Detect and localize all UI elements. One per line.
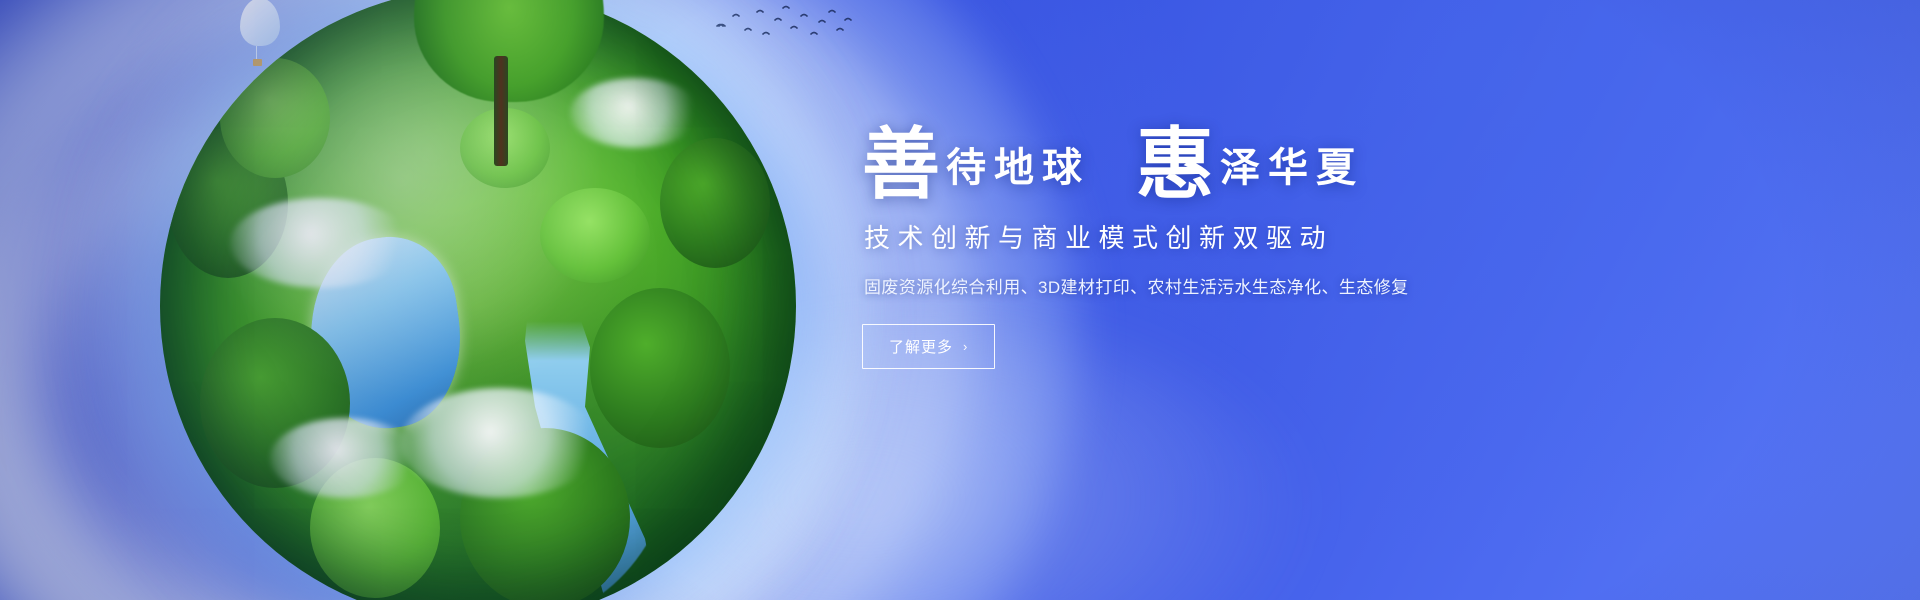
headline-small-text-2: 泽华夏 (1214, 148, 1366, 198)
hero-copy-block: 善 待地球 惠 泽华夏 技术创新与商业模式创新双驱动 固废资源化综合利用、3D建… (862, 120, 1622, 369)
headline-big-char-2: 惠 (1136, 126, 1214, 204)
birds-icon (713, 0, 853, 55)
tiny-planet-earth-image (128, 0, 828, 600)
headline-big-char-1: 善 (862, 126, 940, 204)
hero-banner: 善 待地球 惠 泽华夏 技术创新与商业模式创新双驱动 固废资源化综合利用、3D建… (0, 0, 1920, 600)
learn-more-button[interactable]: 了解更多 › (862, 324, 995, 369)
hero-description: 固废资源化综合利用、3D建材打印、农村生活污水生态净化、生态修复 (864, 273, 1622, 298)
headline-small-text-1: 待地球 (940, 148, 1092, 198)
chevron-right-icon: › (963, 339, 968, 354)
hero-subtitle: 技术创新与商业模式创新双驱动 (864, 218, 1622, 255)
page-title: 善 待地球 惠 泽华夏 (862, 120, 1622, 198)
planet-top-tree-trunk (494, 56, 508, 166)
learn-more-label: 了解更多 (889, 336, 953, 357)
